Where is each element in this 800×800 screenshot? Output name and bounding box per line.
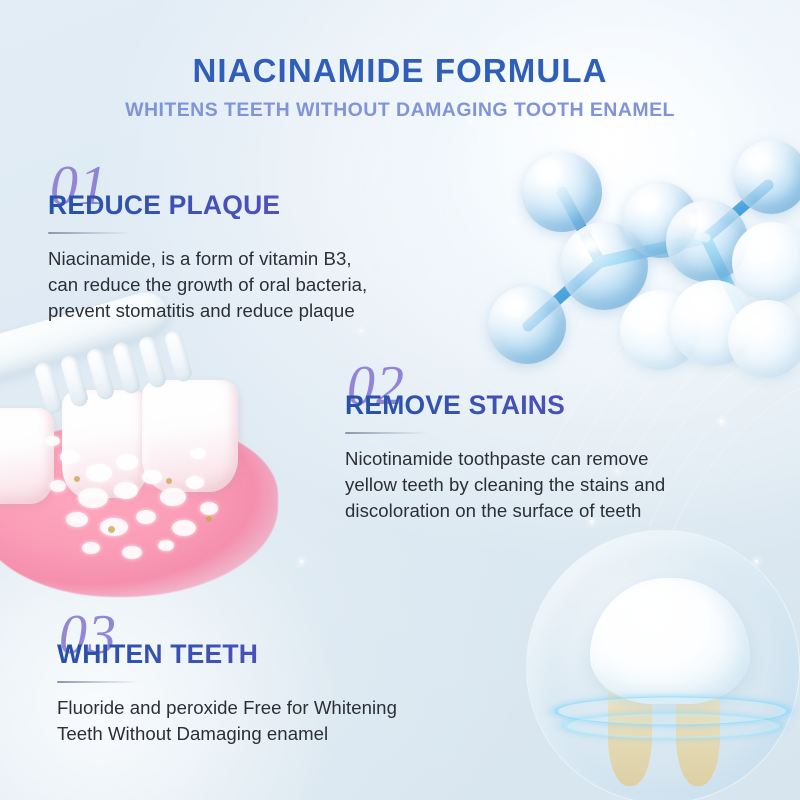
molecule-atom xyxy=(734,140,800,214)
glow-ring xyxy=(564,713,780,738)
feature-divider xyxy=(345,432,428,434)
toothbrush-bristle xyxy=(111,341,142,396)
toothbrush-teeth-plaque-illustration xyxy=(0,330,310,605)
molecule-illustration xyxy=(470,130,800,395)
whitened-tooth-bubble-illustration xyxy=(520,530,800,800)
feature-heading-03: WHITEN TEETH xyxy=(57,641,507,668)
feature-block-03: 03 WHITEN TEETH Fluoride and peroxide Fr… xyxy=(57,607,507,747)
toothbrush xyxy=(0,324,226,434)
feature-heading-01: REDUCE PLAQUE xyxy=(48,192,478,219)
molecule-atom xyxy=(488,286,566,364)
toothbrush-bristle xyxy=(33,361,64,416)
page-subtitle: WHITENS TEETH WITHOUT DAMAGING TOOTH ENA… xyxy=(0,100,800,120)
toothbrush-bristle xyxy=(85,347,116,402)
feature-divider xyxy=(48,232,131,234)
feature-block-02: 02 REMOVE STAINS Nicotinamide toothpaste… xyxy=(345,358,775,525)
page-title: NIACINAMIDE FORMULA xyxy=(0,54,800,89)
feature-block-01: 01 REDUCE PLAQUE Niacinamide, is a form … xyxy=(48,158,478,325)
feature-body-02: Nicotinamide toothpaste can remove yello… xyxy=(345,446,775,525)
feature-body-03: Fluoride and peroxide Free for Whitening… xyxy=(57,695,507,748)
feature-heading-02: REMOVE STAINS xyxy=(345,392,775,419)
header: NIACINAMIDE FORMULA WHITENS TEETH WITHOU… xyxy=(0,54,800,120)
infographic-page: NIACINAMIDE FORMULA WHITENS TEETH WITHOU… xyxy=(0,0,800,800)
feature-divider xyxy=(57,681,140,683)
feature-body-01: Niacinamide, is a form of vitamin B3, ca… xyxy=(48,246,478,325)
toothbrush-bristle xyxy=(163,329,194,384)
molecule-atom xyxy=(522,152,602,232)
toothbrush-bristle xyxy=(59,354,90,409)
toothbrush-bristle xyxy=(137,335,168,390)
